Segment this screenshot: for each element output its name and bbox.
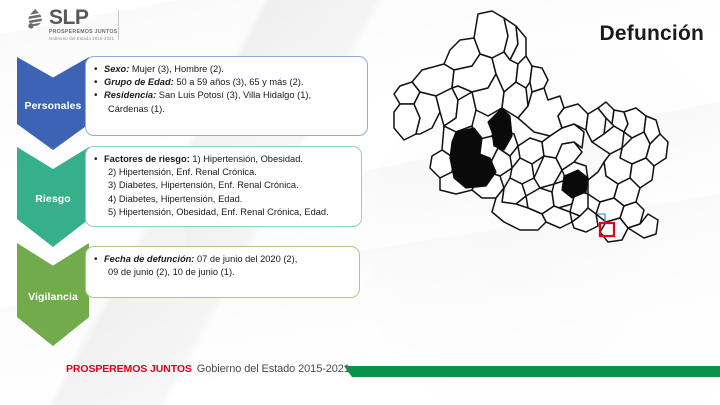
footer-text: PROSPEREMOS JUNTOS Gobierno del Estado 2… [66,363,350,375]
list-item-text: 5) Hipertensión, Obesidad, Enf. Renal Cr… [108,207,329,217]
footer-brand: PROSPEREMOS JUNTOS [66,363,192,375]
list-item: Grupo de Edad: 50 a 59 años (3), 65 y má… [94,76,359,89]
list-item-text: 3) Diabetes, Hipertensión, Enf. Renal Cr… [108,180,299,190]
list-item: Sexo: Mujer (3), Hombre (2). [94,63,359,76]
list-item-lead: Fecha de defunción: [104,254,194,264]
logo-subtagline: Gobierno del Estado 2015-2021 [49,36,117,42]
footer-green-bar [344,366,720,377]
flow-step-label: Personales [24,100,81,112]
list-item-text: Mujer (3), Hombre (2). [132,64,224,74]
list-item-continuation: 3) Diabetes, Hipertensión, Enf. Renal Cr… [94,179,353,192]
list-item-text: 50 a 59 años (3), 65 y más (2). [176,77,303,87]
logo-divider [118,10,119,40]
bullet-list: Fecha de defunción: 07 de junio del 2020… [94,253,351,279]
list-item-continuation: 4) Diabetes, Hipertensión, Edad. [94,193,353,206]
list-item-text: 1) Hipertensión, Obesidad. [192,154,303,164]
list-item-text: Cárdenas (1). [108,104,165,114]
list-item-text: 09 de junio (2), 10 de junio (1). [108,267,235,277]
list-item: Residencia: San Luis Potosí (3), Villa H… [94,89,359,102]
bullet-list: Factores de riesgo: 1) Hipertensión, Obe… [94,153,353,219]
list-item-text: 4) Diabetes, Hipertensión, Edad. [108,194,242,204]
content-box-riesgo: Factores de riesgo: 1) Hipertensión, Obe… [85,146,362,227]
bullet-list: Sexo: Mujer (3), Hombre (2). Grupo de Ed… [94,63,359,116]
content-box-personales: Sexo: Mujer (3), Hombre (2). Grupo de Ed… [85,56,368,136]
list-item-text: San Luis Potosí (3), Villa Hidalgo (1), [159,90,311,100]
san-luis-potosi-municipalities-map [392,8,682,258]
slide-canvas: SLP PROSPEREMOS JUNTOS Gobierno del Esta… [0,0,720,405]
list-item: Fecha de defunción: 07 de junio del 2020… [94,253,351,266]
logo-tagline: PROSPEREMOS JUNTOS [49,29,117,36]
content-box-vigilancia: Fecha de defunción: 07 de junio del 2020… [85,246,360,298]
list-item-lead: Grupo de Edad: [104,77,174,87]
list-item-lead: Sexo: [104,64,129,74]
list-item-lead: Factores de riesgo: [104,154,190,164]
flow-step-personales[interactable]: Personales [17,57,89,150]
list-item-text: 07 de junio del 2020 (2), [197,254,297,264]
flow-step-riesgo[interactable]: Riesgo [17,147,89,247]
flow-step-label: Vigilancia [28,291,78,303]
list-item-text: 2) Hipertensión, Enf. Renal Crónica. [108,167,257,177]
list-item-continuation: 5) Hipertensión, Obesidad, Enf. Renal Cr… [94,206,353,219]
flow-step-label: Riesgo [35,193,71,205]
footer: PROSPEREMOS JUNTOS Gobierno del Estado 2… [0,347,720,405]
map-municipality [530,66,548,92]
list-item-continuation: 2) Hipertensión, Enf. Renal Crónica. [94,166,353,179]
logo-acronym: SLP [49,8,117,28]
slp-droplets-icon [26,8,46,32]
list-item-lead: Residencia: [104,90,156,100]
slp-logo: SLP PROSPEREMOS JUNTOS Gobierno del Esta… [26,8,117,42]
footer-government: Gobierno del Estado 2015-2021 [197,363,350,375]
flow-step-vigilancia[interactable]: Vigilancia [17,243,89,346]
list-item-continuation: 09 de junio (2), 10 de junio (1). [94,266,351,279]
list-item: Factores de riesgo: 1) Hipertensión, Obe… [94,153,353,166]
list-item-continuation: Cárdenas (1). [94,103,359,116]
